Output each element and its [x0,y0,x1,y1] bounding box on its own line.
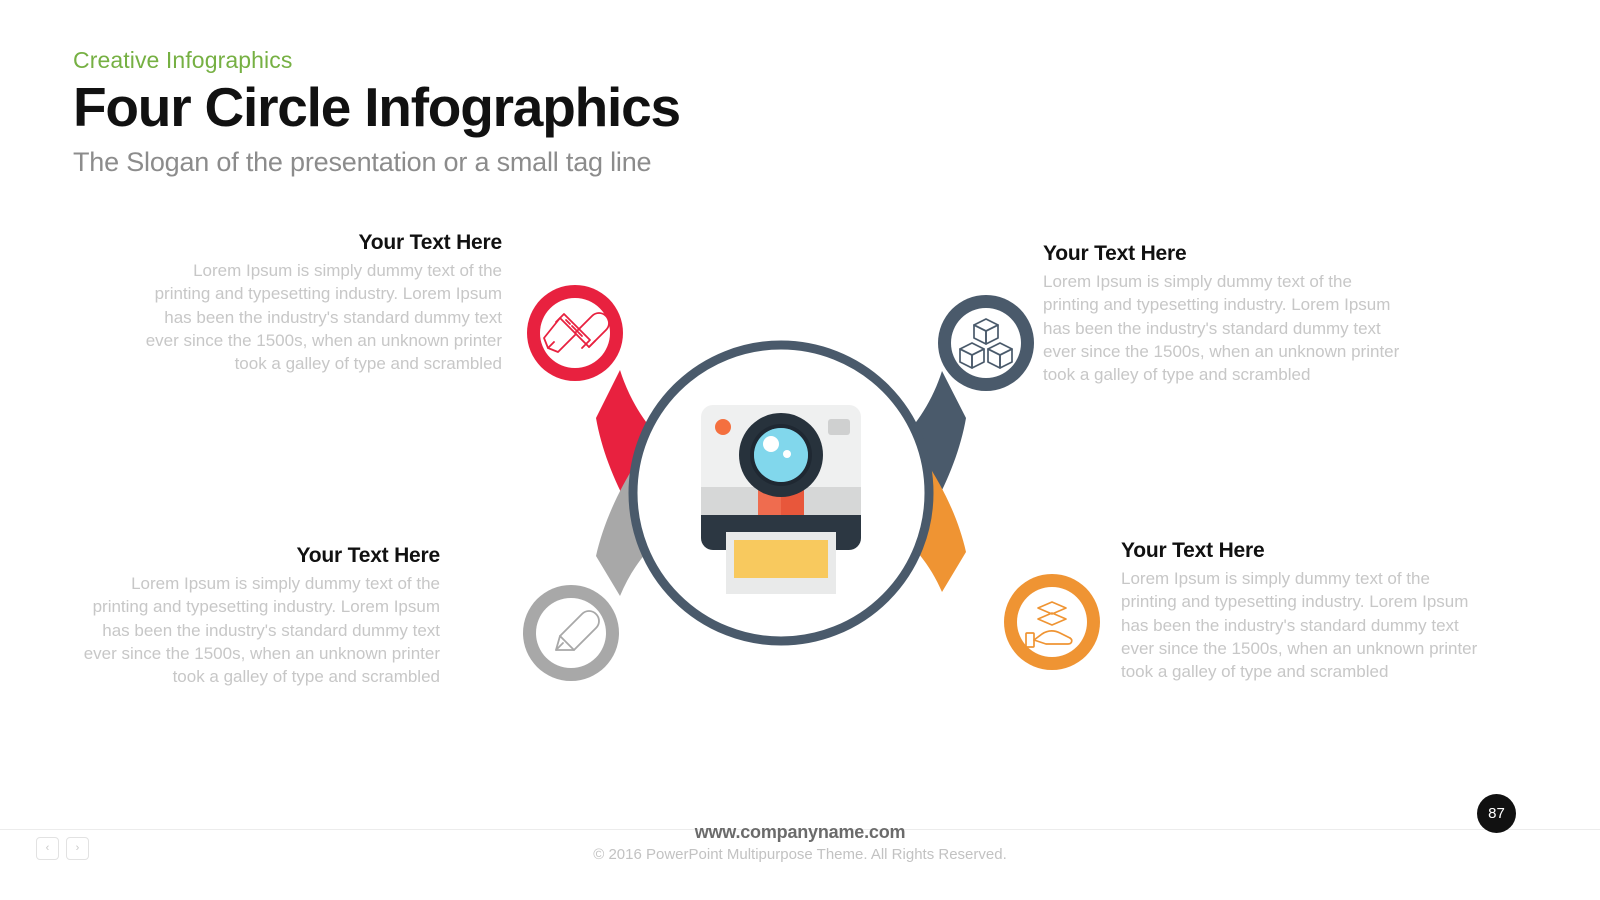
prev-slide-button[interactable]: ‹ [36,837,59,860]
eyebrow-label: Creative Infographics [73,48,680,73]
text-block-bottom-right: Your Text Here Lorem Ipsum is simply dum… [1121,539,1481,683]
slide-header: Creative Infographics Four Circle Infogr… [73,48,680,178]
block-body: Lorem Ipsum is simply dummy text of the … [80,572,440,688]
slide-subtitle: The Slogan of the presentation or a smal… [73,146,680,178]
block-heading: Your Text Here [80,544,440,568]
block-body: Lorem Ipsum is simply dummy text of the … [1121,567,1481,683]
page-title: Four Circle Infographics [73,77,680,139]
next-slide-button[interactable]: › [66,837,89,860]
slide-footer: www.companyname.com © 2016 PowerPoint Mu… [0,822,1600,863]
slide-navigation: ‹ › [36,837,89,860]
copyright-text: © 2016 PowerPoint Multipurpose Theme. Al… [0,846,1600,863]
page-number-badge: 87 [1477,794,1516,833]
text-block-bottom-left: Your Text Here Lorem Ipsum is simply dum… [80,544,440,688]
node-inner-bottom-left [536,598,606,668]
company-website: www.companyname.com [0,822,1600,843]
slide-canvas: Creative Infographics Four Circle Infogr… [0,0,1600,900]
four-circle-diagram [430,240,1130,745]
block-heading: Your Text Here [1121,539,1481,563]
diagram-svg [430,240,1130,740]
